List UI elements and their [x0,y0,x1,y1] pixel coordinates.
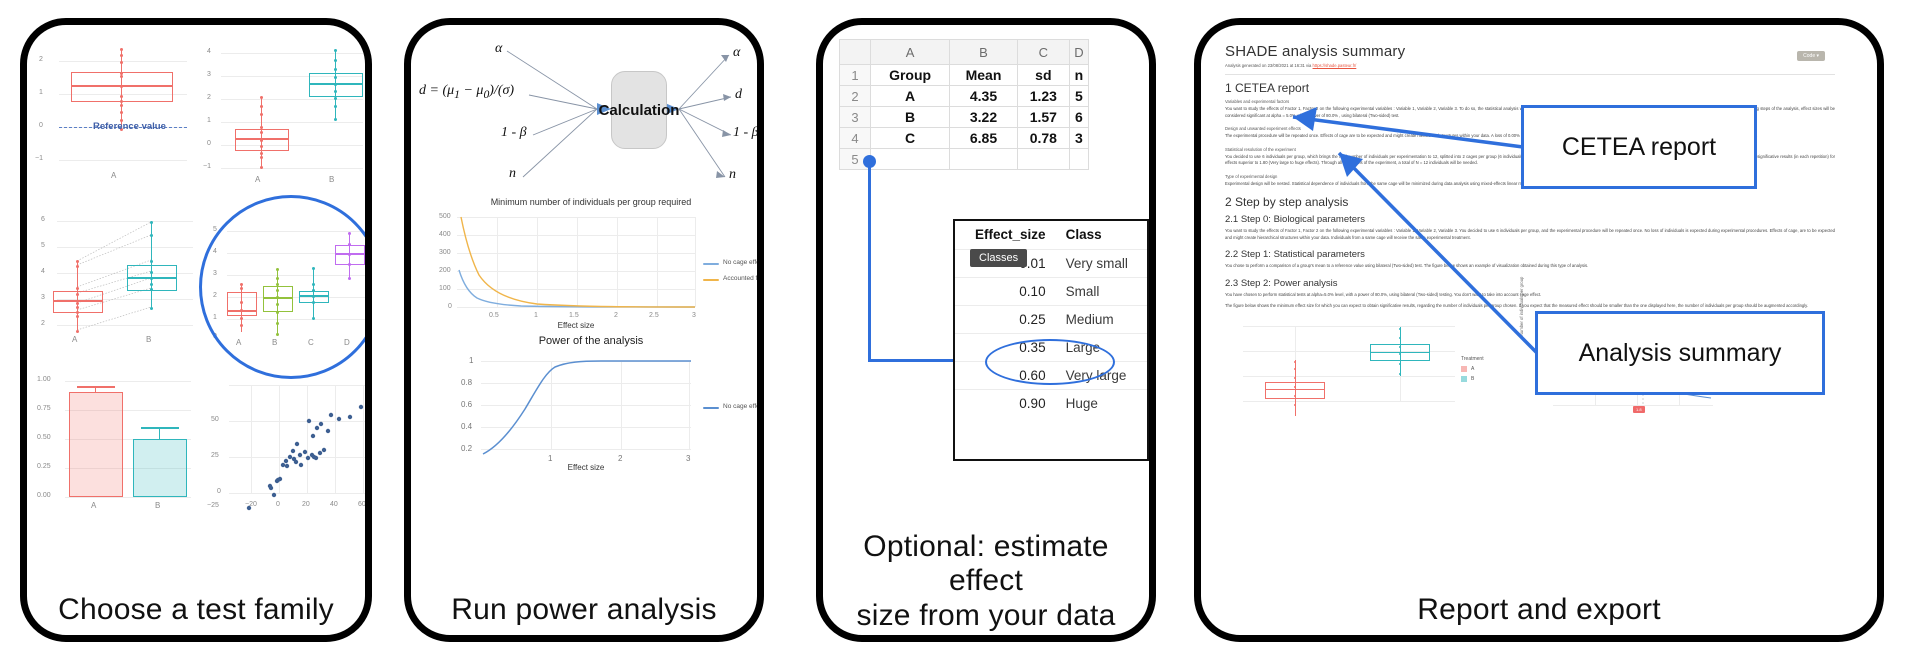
power-xaxis-title: Effect size [541,463,631,472]
legend-accounted-for: Accounted for [723,275,757,282]
table-row[interactable]: 1 Group Mean sd n [840,65,1089,86]
table-row[interactable]: 5 [840,149,1089,170]
cell-a3[interactable]: B [871,107,950,128]
cell-a5[interactable] [871,149,950,170]
input-alpha-label: α [495,41,502,57]
row-number-1: 1 [840,65,871,86]
panel-2-caption: Run power analysis [411,593,757,627]
connector-vertical [868,165,871,362]
section-2-2-heading: 2.2 Step 1: Statistical parameters [1225,249,1835,260]
panel-4-body: Code ▾ SHADE analysis summary Analysis g… [1201,25,1877,563]
reference-value-label: Reference value [93,121,166,132]
cell-c1[interactable]: sd [1017,65,1069,86]
boxplot-legend-title: Treatment [1461,356,1484,362]
section-1-heading: 1 CETEA report [1225,81,1835,95]
effect-size-value-3: 0.25 [955,306,1056,334]
input-arrow-lines [411,25,757,225]
cell-b4[interactable]: 6.85 [950,128,1018,149]
cell-a2[interactable]: A [871,86,950,107]
cell-d1[interactable]: n [1069,65,1088,86]
cetea-report-callout: CETEA report [1521,105,1757,189]
scatter-points [203,369,365,521]
min-n-xaxis-title: Effect size [531,321,621,330]
output-alpha-label: α [733,45,740,61]
calculation-box: Calculation [611,71,667,149]
section-1-block-1-sub: Variables and experimental factors [1225,99,1835,104]
panel-1-body: 2 1 0 −1 Reference value [27,25,365,563]
chart-one-sample-boxplot: 2 1 0 −1 Reference value [33,39,193,189]
table-row[interactable]: 3 B 3.22 1.57 6 [840,107,1089,128]
panel-3-body: A B C D 1 Group Mean sd n 2 A 4.35 1.23 [823,25,1149,563]
section-2-1-text: You want to study the effects of Factor … [1225,228,1835,241]
row-number-3: 3 [840,107,871,128]
effect-size-value-6: 0.90 [955,390,1056,418]
panel-choose-test-family: 2 1 0 −1 Reference value [20,18,372,642]
boxplot-legend-b: B [1471,376,1474,382]
power-plot-marker-x: 1.8 [1633,406,1645,413]
effect-size-class-6: Huge [1056,390,1147,418]
cell-b5[interactable] [950,149,1018,170]
cell-b1[interactable]: Mean [950,65,1018,86]
effect-size-class-table[interactable]: Effect_size Class 0.01 Very small 0.10 S… [953,219,1149,461]
chart-power-curve: 1 0.8 0.6 0.4 0.2 1 2 3 No cage effect E… [421,351,757,479]
panel-run-power-analysis: α d = (μ1 − μ0)/(σ) 1 - β n Calculation … [404,18,764,642]
effect-size-class-3: Medium [1056,306,1147,334]
classes-tooltip: Classes [970,249,1027,267]
section-2-3-text-2: The figure below shows the minimum effec… [1225,303,1835,310]
cell-d3[interactable]: 6 [1069,107,1088,128]
cell-d2[interactable]: 5 [1069,86,1088,107]
row-number-4: 4 [840,128,871,149]
output-effect-size-label: d [735,87,742,103]
power-plot-ylabel: Number of individuals per group [1519,276,1524,335]
panel-4-caption: Report and export [1201,593,1877,627]
legend-no-cage-effect: No cage effect [723,259,757,266]
min-n-chart-title: Minimum number of individuals per group … [411,197,757,207]
section-2-3-heading: 2.3 Step 2: Power analysis [1225,278,1835,289]
cell-c5[interactable] [1017,149,1069,170]
shade-url-link[interactable]: https://shade.pasteur.fr/ [1313,63,1357,68]
input-effect-size-formula: d = (μ1 − μ0)/(σ) [419,83,514,101]
cell-c2[interactable]: 1.23 [1017,86,1069,107]
section-2-heading: 2 Step by step analysis [1225,195,1835,209]
column-header-c[interactable]: C [1017,40,1069,65]
boxplot-legend-a: A [1471,366,1474,372]
panel-estimate-effect-size: A B C D 1 Group Mean sd n 2 A 4.35 1.23 [816,18,1156,642]
output-sample-size-label: n [729,167,736,183]
column-header-a[interactable]: A [871,40,950,65]
row-number-2: 2 [840,86,871,107]
list-item[interactable]: 0.90 Huge [955,390,1147,418]
power-chart-title: Power of the analysis [411,335,757,347]
cell-a4[interactable]: C [871,128,950,149]
panel-2-body: α d = (μ1 − μ0)/(σ) 1 - β n Calculation … [411,25,757,563]
effect-size-column-header: Effect_size [955,221,1056,250]
panel-report-and-export: Code ▾ SHADE analysis summary Analysis g… [1194,18,1884,642]
column-header-d[interactable]: D [1069,40,1088,65]
analysis-summary-callout: Analysis summary [1535,311,1825,395]
input-power-label: 1 - β [501,125,527,141]
report-meta: Analysis generated on 23/08/2021 at 16:3… [1225,63,1835,68]
panel-1-caption: Choose a test family [27,593,365,627]
chart-paired-boxplot: 6 5 4 3 2 [31,203,199,355]
column-header-b[interactable]: B [950,40,1018,65]
table-row[interactable]: 4 C 6.85 0.78 3 [840,128,1089,149]
chart-correlation-scatter: 50 25 0 −25 −20 0 20 40 60 [203,369,365,521]
table-row[interactable]: 2 A 4.35 1.23 5 [840,86,1089,107]
legend-power-no-cage-effect: No cage effect [723,403,757,410]
power-series [421,351,757,479]
effect-size-highlight-circle [985,339,1115,385]
output-power-label: 1 - β [733,125,757,141]
chart-proportion-barplot: 1.00 0.75 0.50 0.25 0.00 A B [33,367,197,517]
list-item[interactable]: 0.25 Medium [955,306,1147,334]
report-boxplot: Treatment A B [1225,318,1475,424]
cell-c3[interactable]: 1.57 [1017,107,1069,128]
panel-3-caption: Optional: estimate effect size from your… [823,530,1149,634]
summary-stats-spreadsheet[interactable]: A B C D 1 Group Mean sd n 2 A 4.35 1.23 [839,39,1089,170]
cell-b2[interactable]: 4.35 [950,86,1018,107]
workflow-overview: 2 1 0 −1 Reference value [0,0,1906,660]
effect-size-class-1: Very small [1056,250,1147,278]
code-toggle-button[interactable]: Code ▾ [1797,51,1825,61]
cell-d5[interactable] [1069,149,1088,170]
cell-d4[interactable]: 3 [1069,128,1088,149]
effect-size-value-2: 0.10 [955,278,1056,306]
report-title: SHADE analysis summary [1225,43,1835,60]
cell-c4[interactable]: 0.78 [1017,128,1069,149]
class-column-header: Class [1056,221,1147,250]
chart-minimum-n: 500 400 300 200 100 0 0.5 1 1.5 2 2.5 3 … [421,211,757,331]
spreadsheet-corner[interactable] [840,40,871,65]
chart-two-group-boxplot: 4 3 2 1 0 −1 [197,35,365,195]
input-sample-size-label: n [509,166,516,182]
cell-a1[interactable]: Group [871,65,950,86]
list-item[interactable]: 0.10 Small [955,278,1147,306]
section-2-1-heading: 2.1 Step 0: Biological parameters [1225,214,1835,225]
effect-size-class-2: Small [1056,278,1147,306]
cell-b3[interactable]: 3.22 [950,107,1018,128]
